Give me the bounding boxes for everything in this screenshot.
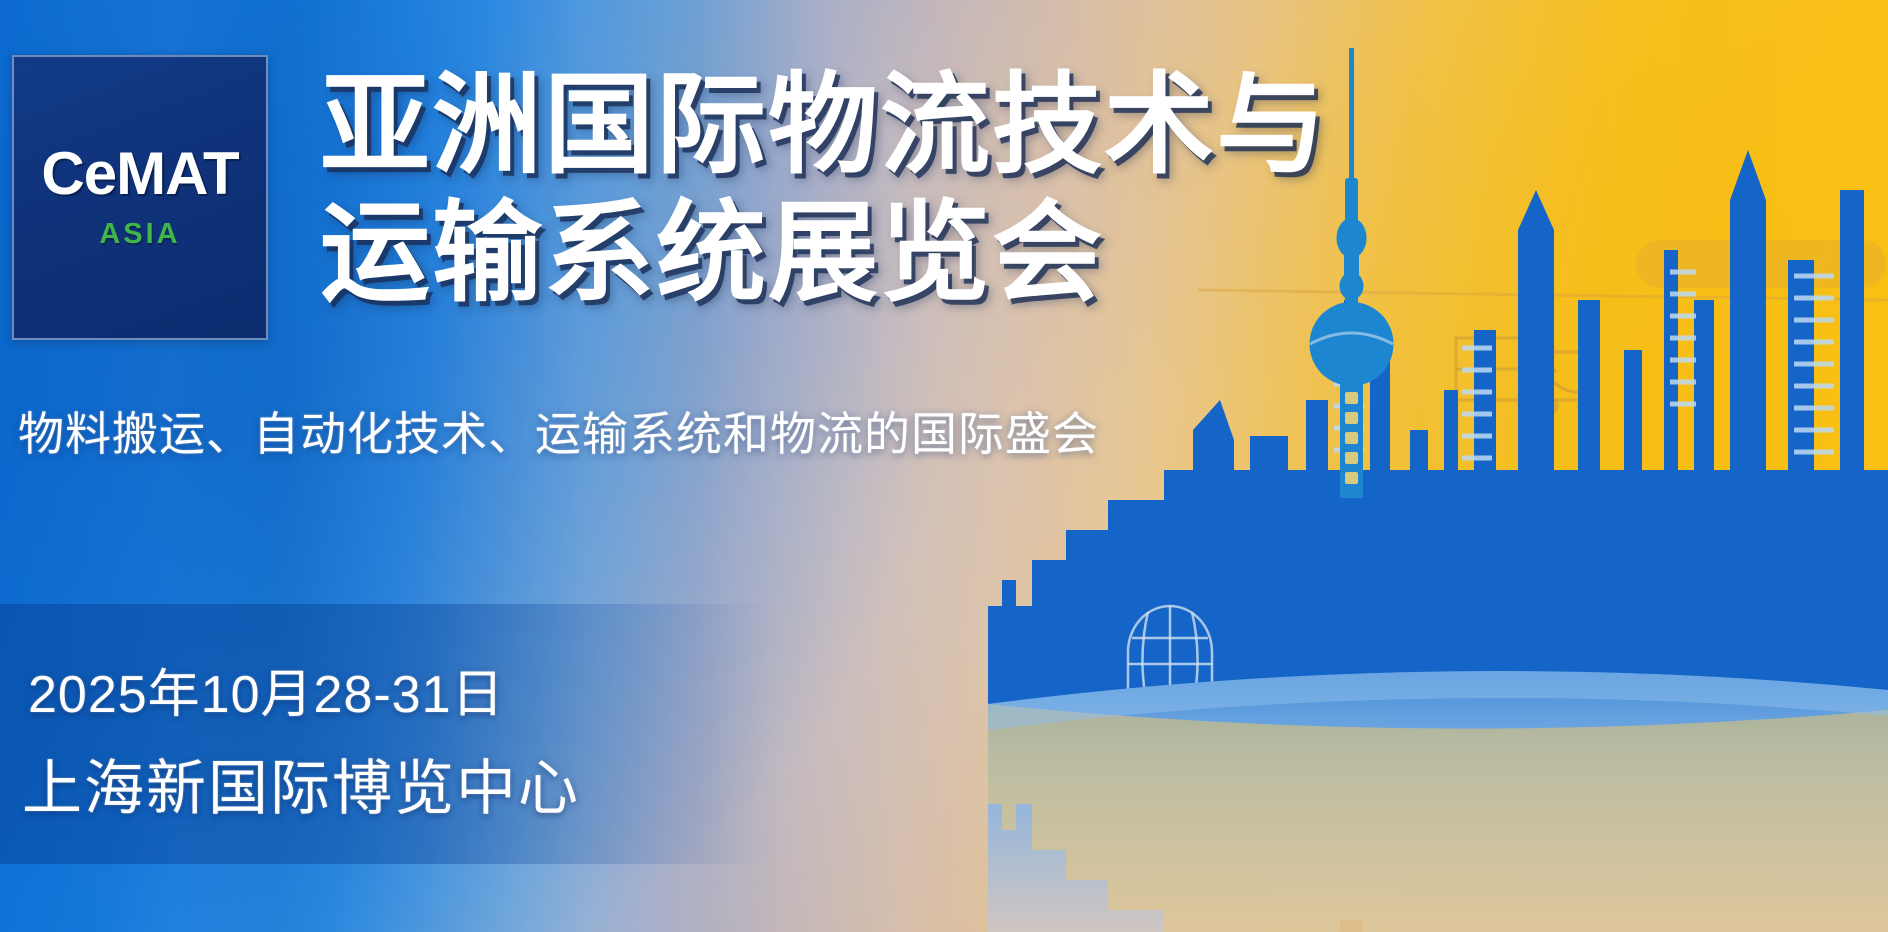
subtitle-text: 物料搬运、自动化技术、运输系统和物流的国际盛会 (18, 398, 1099, 464)
logo-region-text: ASIA (99, 218, 180, 251)
headline-line-2: 运输系统展览会 (320, 190, 1380, 318)
cemat-asia-banner: CeMAT ASIA 亚洲国际物流技术与 运输系统展览会 物料搬运、自动化技术、… (0, 0, 1888, 932)
event-date: 2025年10月28-31日 (28, 652, 505, 727)
logo-wordmark: CeMAT (41, 144, 238, 204)
cemat-logo: CeMAT ASIA (12, 55, 268, 340)
headline-block: 亚洲国际物流技术与 运输系统展览会 (320, 62, 1380, 317)
headline-line-1: 亚洲国际物流技术与 (320, 62, 1380, 190)
event-venue: 上海新国际博览中心 (22, 740, 580, 827)
